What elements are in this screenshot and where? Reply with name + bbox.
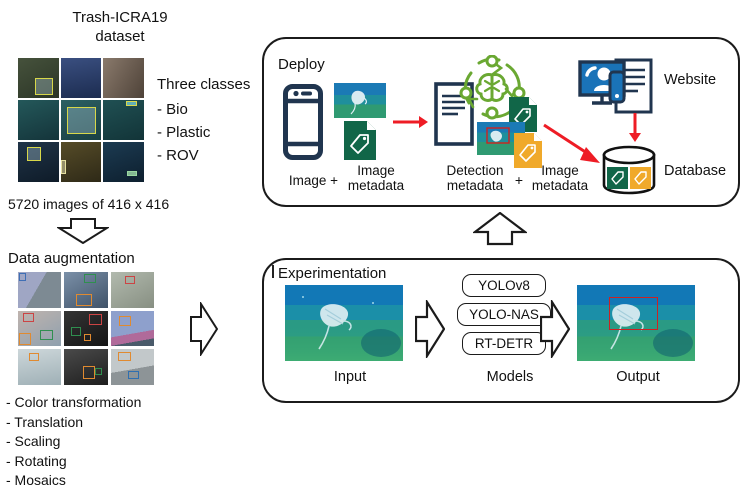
input-image [285,285,403,361]
aug-thumb-7 [18,349,61,385]
caption-detection-metadata-l1: Detection [436,163,514,178]
aug-thumb-3 [111,272,154,308]
caption-image-metadata-2-l2: metadata [522,178,598,193]
red-arrow-icon-3 [628,113,642,148]
dataset-thumb-7 [18,142,59,182]
augmentation-list: - Color transformation - Translation - S… [6,393,141,491]
smartphone-icon [283,84,323,165]
dataset-title: Trash-ICRA19 dataset [30,8,210,46]
caption-website: Website [664,72,716,88]
caption-image-metadata-1: Image metadata [338,163,414,193]
dataset-thumb-2 [61,58,102,98]
caption-image-metadata-1-l2: metadata [338,178,414,193]
green-tag-document-icon-1 [343,120,377,166]
website-monitor-icon [578,58,654,125]
dataset-thumb-8 [61,142,102,182]
underwater-image-icon-1 [334,83,386,118]
dataset-thumbnail-grid [18,58,144,182]
aug-thumb-1 [18,272,61,308]
model-pill-rt-detr[interactable]: RT-DETR [462,332,546,355]
database-cylinder-icon [601,145,657,200]
caption-image-metadata-2-l1: Image [522,163,598,178]
dataset-thumb-6 [103,100,144,140]
caption-detection-metadata-l2: metadata [436,178,514,193]
caption-image-metadata-2: Image metadata [522,163,598,193]
model-pill-yolov8[interactable]: YOLOv8 [462,274,546,297]
experimentation-tick-mark [272,265,274,278]
aug-list-item-3: - Rotating [6,452,141,472]
aug-list-item-0: - Color transformation [6,393,141,413]
caption-models: Models [455,370,565,385]
hollow-down-arrow-icon [57,218,109,249]
dataset-thumb-4 [18,100,59,140]
dataset-thumb-9 [103,142,144,182]
hollow-right-arrow-icon-1 [190,302,218,361]
dataset-title-line2: dataset [30,27,210,46]
detection-bounding-box [609,297,659,330]
data-augmentation-title: Data augmentation [8,250,135,267]
aug-thumb-4 [18,311,61,347]
caption-detection-metadata: Detection metadata [436,163,514,193]
hollow-up-arrow-icon [473,212,527,251]
images-count-label: 5720 images of 416 x 416 [8,196,169,212]
class-item-rov: - ROV [157,147,199,164]
aug-list-item-2: - Scaling [6,432,141,452]
classes-heading: Three classes [157,76,250,93]
caption-image-metadata-1-l1: Image [338,163,414,178]
deploy-panel-title: Deploy [278,56,325,73]
caption-output: Output [578,370,698,385]
output-image [577,285,695,361]
caption-input: Input [290,370,410,385]
aug-list-item-1: - Translation [6,413,141,433]
aug-thumb-9 [111,349,154,385]
model-pill-yolo-nas[interactable]: YOLO-NAS [457,303,551,326]
dataset-thumb-1 [18,58,59,98]
aug-thumb-8 [64,349,107,385]
augmentation-thumbnail-grid [18,272,154,385]
class-item-plastic: - Plastic [157,124,210,141]
hollow-right-arrow-icon-3 [540,300,570,363]
aug-thumb-6 [111,311,154,347]
aug-thumb-5 [64,311,107,347]
red-arrow-icon-1 [393,115,429,134]
caption-image-plus: Image + [272,173,338,188]
dataset-thumb-5 [61,100,102,140]
dataset-thumb-3 [103,58,144,98]
class-item-bio: - Bio [157,101,188,118]
aug-thumb-2 [64,272,107,308]
hollow-right-arrow-icon-2 [415,300,445,363]
aug-list-item-4: - Mosaics [6,471,141,491]
experimentation-panel-title: Experimentation [278,265,386,282]
dataset-title-line1: Trash-ICRA19 [30,8,210,27]
caption-database: Database [664,163,726,179]
